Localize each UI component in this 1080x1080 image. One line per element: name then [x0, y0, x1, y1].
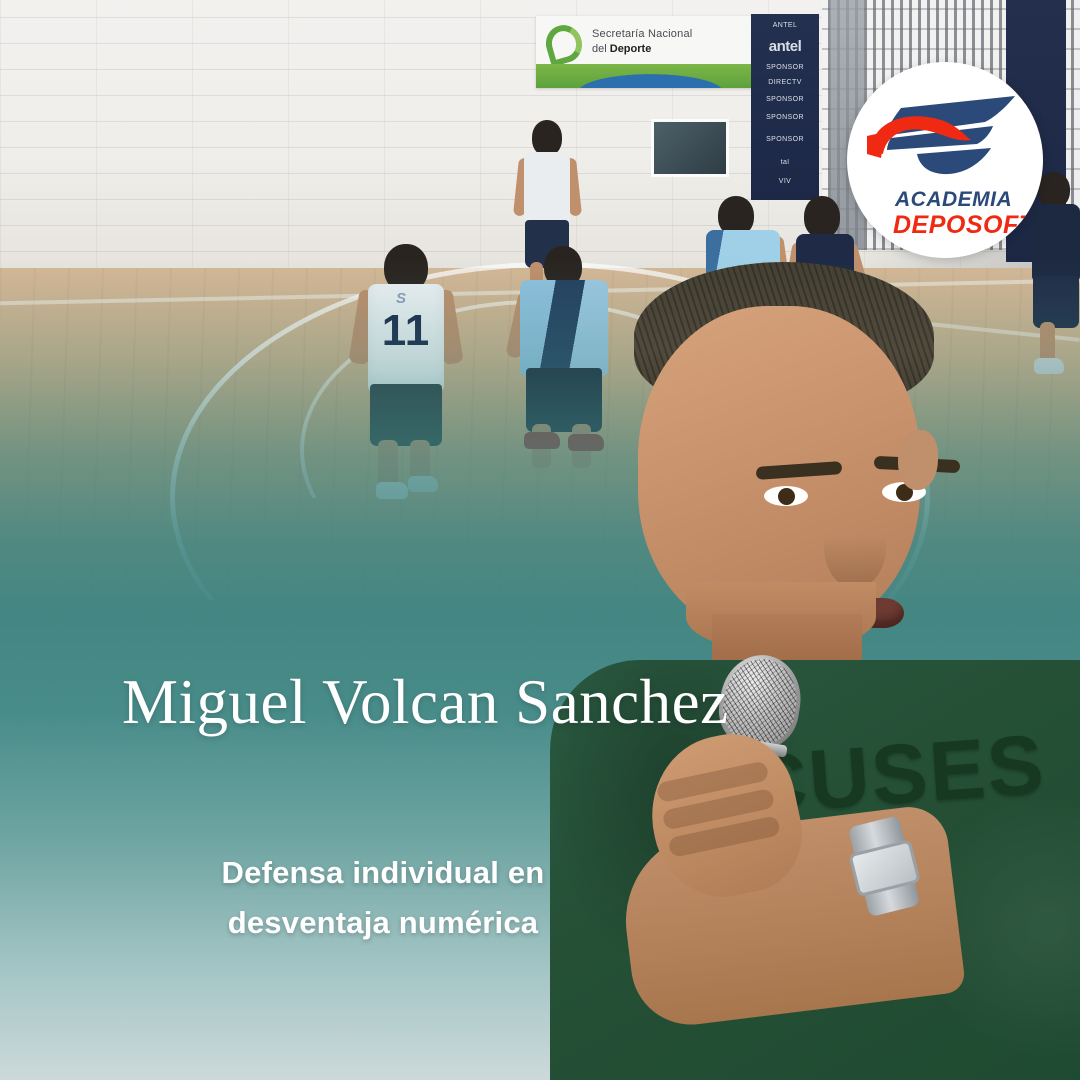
- sponsor-row-6: SPONSOR: [751, 136, 819, 143]
- deposoft-emblem-icon: [865, 92, 1025, 178]
- subtitle-line-2: desventaja numérica: [0, 898, 766, 948]
- page-title: Miguel Volcan Sanchez: [122, 666, 729, 739]
- banner-line-2-prefix: del: [592, 43, 610, 55]
- speaker-eye-left: [764, 486, 808, 506]
- player-shoe-left: [376, 482, 408, 499]
- banner-line-2-bold: Deporte: [610, 43, 652, 55]
- player-number-11: S 11: [352, 244, 460, 502]
- banner-line-2: del Deporte: [592, 43, 651, 55]
- sponsor-row-antel: antel: [751, 38, 819, 55]
- sponsor-row-0: ANTEL: [751, 22, 819, 29]
- subtitle-line-1: Defensa individual en: [0, 848, 766, 898]
- sponsor-row-5: SPONSOR: [751, 114, 819, 121]
- player-shorts: [370, 384, 442, 446]
- logo-word-deposoft: DEPOSOFT: [893, 211, 1043, 240]
- banner-hill-graphic: [536, 64, 754, 88]
- sponsor-row-7: tal: [751, 159, 819, 166]
- wall-window: [654, 122, 726, 174]
- speaker-nose: [824, 502, 886, 588]
- sponsor-row-directv: DIRECTV: [751, 79, 819, 86]
- logo-word-academia: ACADEMIA: [895, 188, 1043, 212]
- sponsor-board: ANTEL antel SPONSOR DIRECTV SPONSOR SPON…: [751, 14, 819, 200]
- player-jersey: [524, 152, 570, 224]
- player-head: [804, 196, 840, 238]
- venue-banner: Secretaría Nacional del Deporte: [536, 16, 754, 88]
- banner-leaf-icon: [541, 21, 586, 67]
- brand-logo-badge[interactable]: ACADEMIA DEPOSOFT: [847, 62, 1043, 258]
- page-subtitle: Defensa individual en desventaja numéric…: [0, 848, 766, 948]
- player-shoe-right: [408, 476, 438, 492]
- speaker-ear: [898, 430, 938, 490]
- speaker-eyebrow-left: [756, 461, 843, 480]
- player-head: [532, 120, 562, 156]
- video-thumbnail-card: Secretaría Nacional del Deporte ANTEL an…: [0, 0, 1080, 1080]
- jersey-crest-icon: S: [396, 290, 416, 306]
- player-shoe-left: [524, 432, 560, 449]
- jersey-number: 11: [368, 306, 444, 356]
- sponsor-row-2: SPONSOR: [751, 64, 819, 71]
- sponsor-row-4: SPONSOR: [751, 96, 819, 103]
- sponsor-row-8: VIV: [751, 178, 819, 185]
- banner-line-1: Secretaría Nacional: [592, 28, 692, 40]
